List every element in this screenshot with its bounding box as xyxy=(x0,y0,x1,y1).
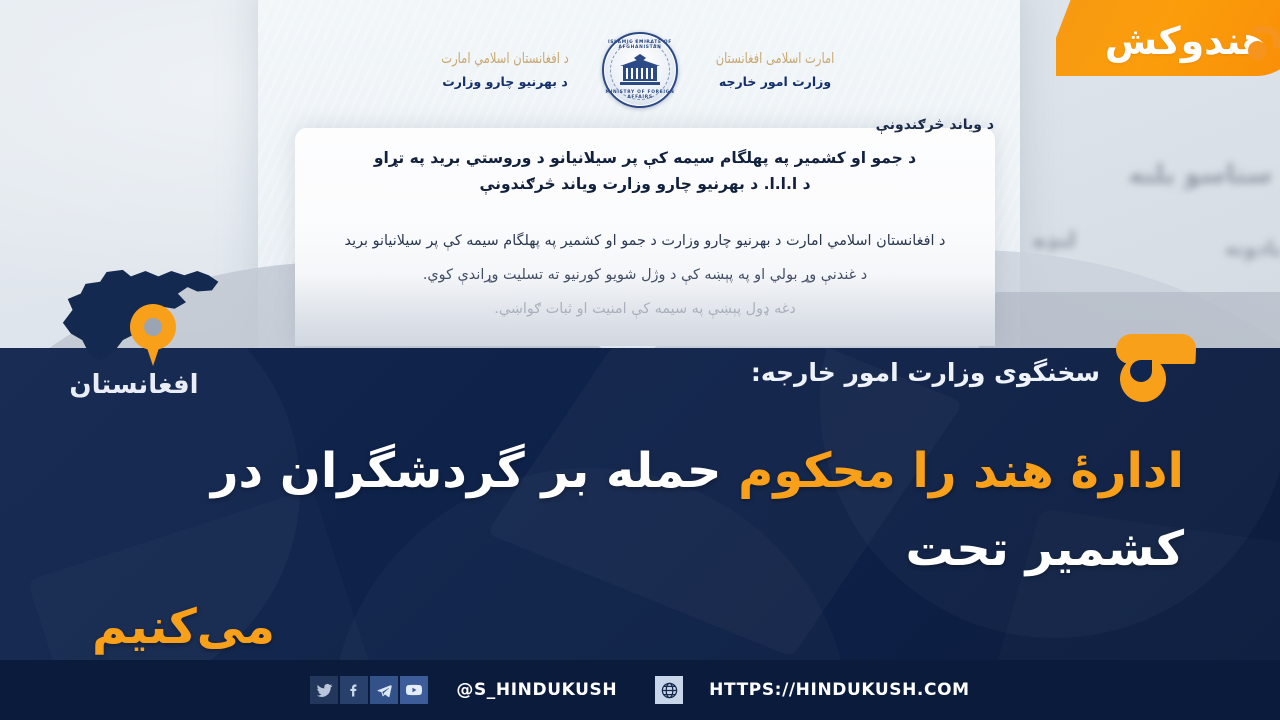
seal-base xyxy=(620,82,660,85)
quote-mark-icon xyxy=(1110,332,1196,402)
quote-notch xyxy=(1130,360,1152,382)
footer-bar: @S_HINDUKUSH HTTPS://HINDUKUSH.COM xyxy=(0,660,1280,720)
channel-logo[interactable]: هندوکش xyxy=(1056,0,1280,100)
document-body-line-3: دغه ډول پېښې په سیمه کې امنیت او ثبات ګو… xyxy=(300,292,990,326)
kicker-text: سخنگوی وزارت امور خارجه: xyxy=(751,358,1100,387)
country-locator: افغانستان xyxy=(34,258,234,418)
facebook-icon[interactable] xyxy=(340,676,368,704)
social-handle[interactable]: @S_HINDUKUSH xyxy=(456,680,617,700)
seal-arc-top-text: ISLAMIC EMIRATE OF AFGHANISTAN xyxy=(604,40,676,50)
headline-line-1-orange: ادارۀ هند را محکوم xyxy=(738,443,1184,499)
seal-roof xyxy=(620,59,660,66)
seal-columns xyxy=(626,68,654,79)
youtube-icon[interactable] xyxy=(400,676,428,704)
document-body-line-1: د افغانستان اسلامي امارت د بهرنیو چارو و… xyxy=(300,224,990,258)
seal-arc-bottom-text: MINISTRY OF FOREIGN AFFAIRS xyxy=(604,90,676,100)
ministry-letterhead: امارت اسلامی افغانستان وزارت امور خارجه … xyxy=(430,22,850,118)
letterhead-right-script: د افغانستان اسلامي امارت xyxy=(430,49,580,67)
blurred-background-text-2: لنډه xyxy=(1033,228,1076,253)
telegram-icon[interactable] xyxy=(370,676,398,704)
twitter-icon[interactable] xyxy=(310,676,338,704)
letterhead-right-block: د افغانستان اسلامي امارت د بهرنیو چارو و… xyxy=(430,51,580,89)
document-body: د افغانستان اسلامي امارت د بهرنیو چارو و… xyxy=(300,224,990,326)
letterhead-right-name: د بهرنیو چارو وزارت xyxy=(430,74,580,89)
document-body-line-2: د غندنې وړ بولي او په پېښه کې د وژل شویو… xyxy=(300,258,990,292)
letterhead-left-block: امارت اسلامی افغانستان وزارت امور خارجه xyxy=(700,51,850,89)
location-pin-icon xyxy=(130,304,176,366)
blurred-background-text-1: ستاسو بلنه xyxy=(1128,160,1272,190)
news-graphic-canvas: ستاسو بلنه لنډه یادونه امارت اسلامی افغا… xyxy=(0,0,1280,720)
document-eyebrow: د ویاند څرګندونې xyxy=(876,117,994,133)
website-url[interactable]: HTTPS://HINDUKUSH.COM xyxy=(709,680,969,700)
social-icon-row xyxy=(310,676,428,704)
seal-building-glyph xyxy=(620,55,660,85)
blurred-background-text-3: یادونه xyxy=(1225,236,1280,260)
document-title-line-1: د جمو او کشمیر په پهلگام سیمه کې پر سیلا… xyxy=(374,149,916,167)
document-title: د جمو او کشمیر په پهلگام سیمه کې پر سیلا… xyxy=(300,145,990,197)
letterhead-left-script: امارت اسلامی افغانستان xyxy=(700,49,850,67)
ministry-seal-icon: ISLAMIC EMIRATE OF AFGHANISTAN MINISTRY … xyxy=(602,32,678,108)
document-title-line-2: د ا.ا.ا. د بهرنیو چارو وزارت ویاند څرګند… xyxy=(479,175,810,193)
logo-wordmark: هندوکش xyxy=(1105,22,1268,60)
logo-dot-shape xyxy=(1248,41,1267,60)
headline-line-2: می‌کنیم xyxy=(84,588,1184,666)
headline-line-1: ادارۀ هند را محکوم حمله بر گردشگران در ک… xyxy=(84,432,1184,588)
country-label: افغانستان xyxy=(34,370,234,400)
globe-icon[interactable] xyxy=(655,676,683,704)
logo-seed-hook-icon xyxy=(1246,26,1280,60)
pin-hole xyxy=(144,318,162,336)
letterhead-left-name: وزارت امور خارجه xyxy=(700,74,850,89)
headline-line-2-orange: می‌کنیم xyxy=(92,599,275,655)
headline: ادارۀ هند را محکوم حمله بر گردشگران در ک… xyxy=(84,432,1184,666)
